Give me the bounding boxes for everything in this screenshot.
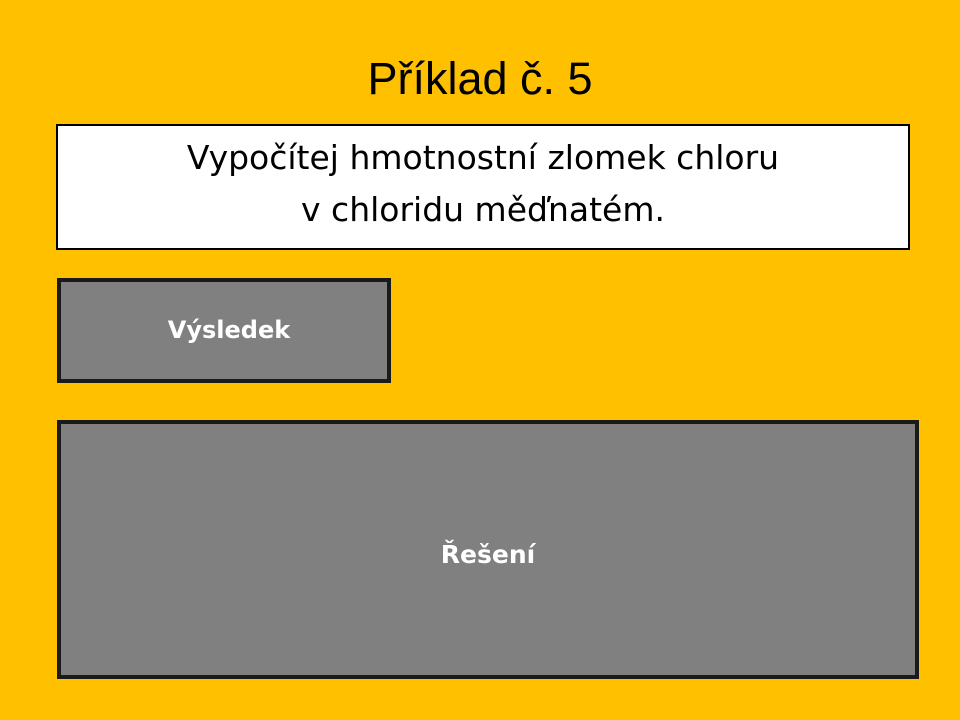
slide-canvas: Příklad č. 5 Vypočítej hmotnostní zlomek… bbox=[0, 0, 960, 720]
page-title: Příklad č. 5 bbox=[0, 52, 960, 106]
question-line-1: Vypočítej hmotnostní zlomek chloru bbox=[187, 132, 779, 184]
solution-reveal-label: Řešení bbox=[441, 541, 535, 569]
question-line-2: v chloridu měďnatém. bbox=[301, 184, 665, 236]
result-reveal-label: Výsledek bbox=[168, 317, 290, 343]
question-panel: Vypočítej hmotnostní zlomek chloru v chl… bbox=[56, 124, 910, 250]
result-reveal-button[interactable]: Výsledek bbox=[57, 278, 391, 383]
solution-reveal-button[interactable]: Řešení bbox=[57, 420, 919, 679]
